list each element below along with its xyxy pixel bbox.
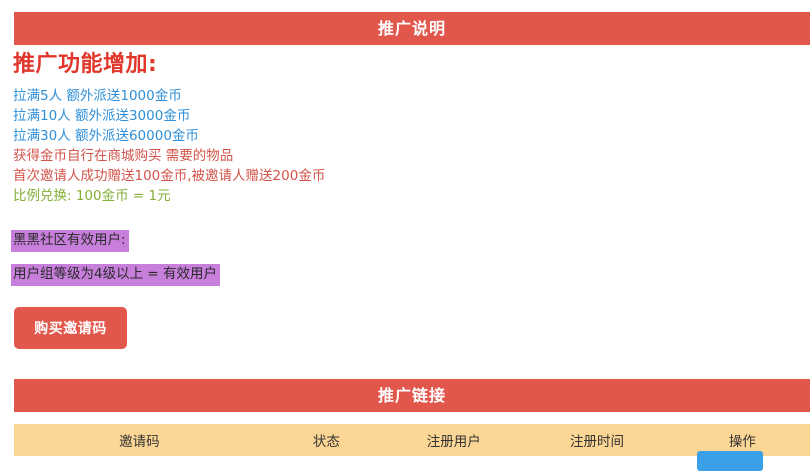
highlight-text-valid-user-rule: 用户组等级为4级以上 = 有效用户: [11, 264, 220, 286]
rule-line-2: 拉满10人 额外派送3000金币: [13, 106, 793, 126]
rule-line-1: 拉满5人 额外派送1000金币: [13, 86, 793, 106]
highlight-row-valid-user-rule: 用户组等级为4级以上 = 有效用户: [11, 263, 220, 286]
table-header-row: 邀请码 状态 注册用户 注册时间 操作: [14, 424, 810, 456]
rule-line-5: 首次邀请人成功赠送100金币,被邀请人赠送200金币: [13, 166, 793, 186]
promo-intro-block: 推广功能增加: 拉满5人 额外派送1000金币 拉满10人 额外派送3000金币…: [13, 50, 793, 206]
page-title: 推广功能增加:: [13, 50, 793, 80]
buy-invite-code-button[interactable]: 购买邀请码: [14, 307, 127, 349]
column-header-status[interactable]: 状态: [265, 424, 388, 456]
rule-line-4: 获得金币自行在商城购买 需要的物品: [13, 146, 793, 166]
column-header-registered-time[interactable]: 注册时间: [519, 424, 674, 456]
column-header-invite-code[interactable]: 邀请码: [14, 424, 265, 456]
highlight-text-valid-user-title: 黑黑社区有效用户:: [11, 230, 129, 252]
rule-line-6: 比例兑换: 100金币 = 1元: [13, 186, 793, 206]
section-header-promo-info: 推广说明: [14, 12, 810, 45]
row-action-button[interactable]: [697, 451, 763, 471]
rule-line-3: 拉满30人 额外派送60000金币: [13, 126, 793, 146]
promo-links-table-wrapper: 邀请码 状态 注册用户 注册时间 操作: [14, 424, 810, 456]
highlight-row-valid-user-title: 黑黑社区有效用户:: [11, 229, 129, 252]
column-header-registered-user[interactable]: 注册用户: [388, 424, 519, 456]
promotion-page: 推广说明 推广功能增加: 拉满5人 额外派送1000金币 拉满10人 额外派送3…: [0, 0, 810, 456]
section-header-promo-links: 推广链接: [14, 379, 810, 412]
promo-links-table: 邀请码 状态 注册用户 注册时间 操作: [14, 424, 810, 456]
